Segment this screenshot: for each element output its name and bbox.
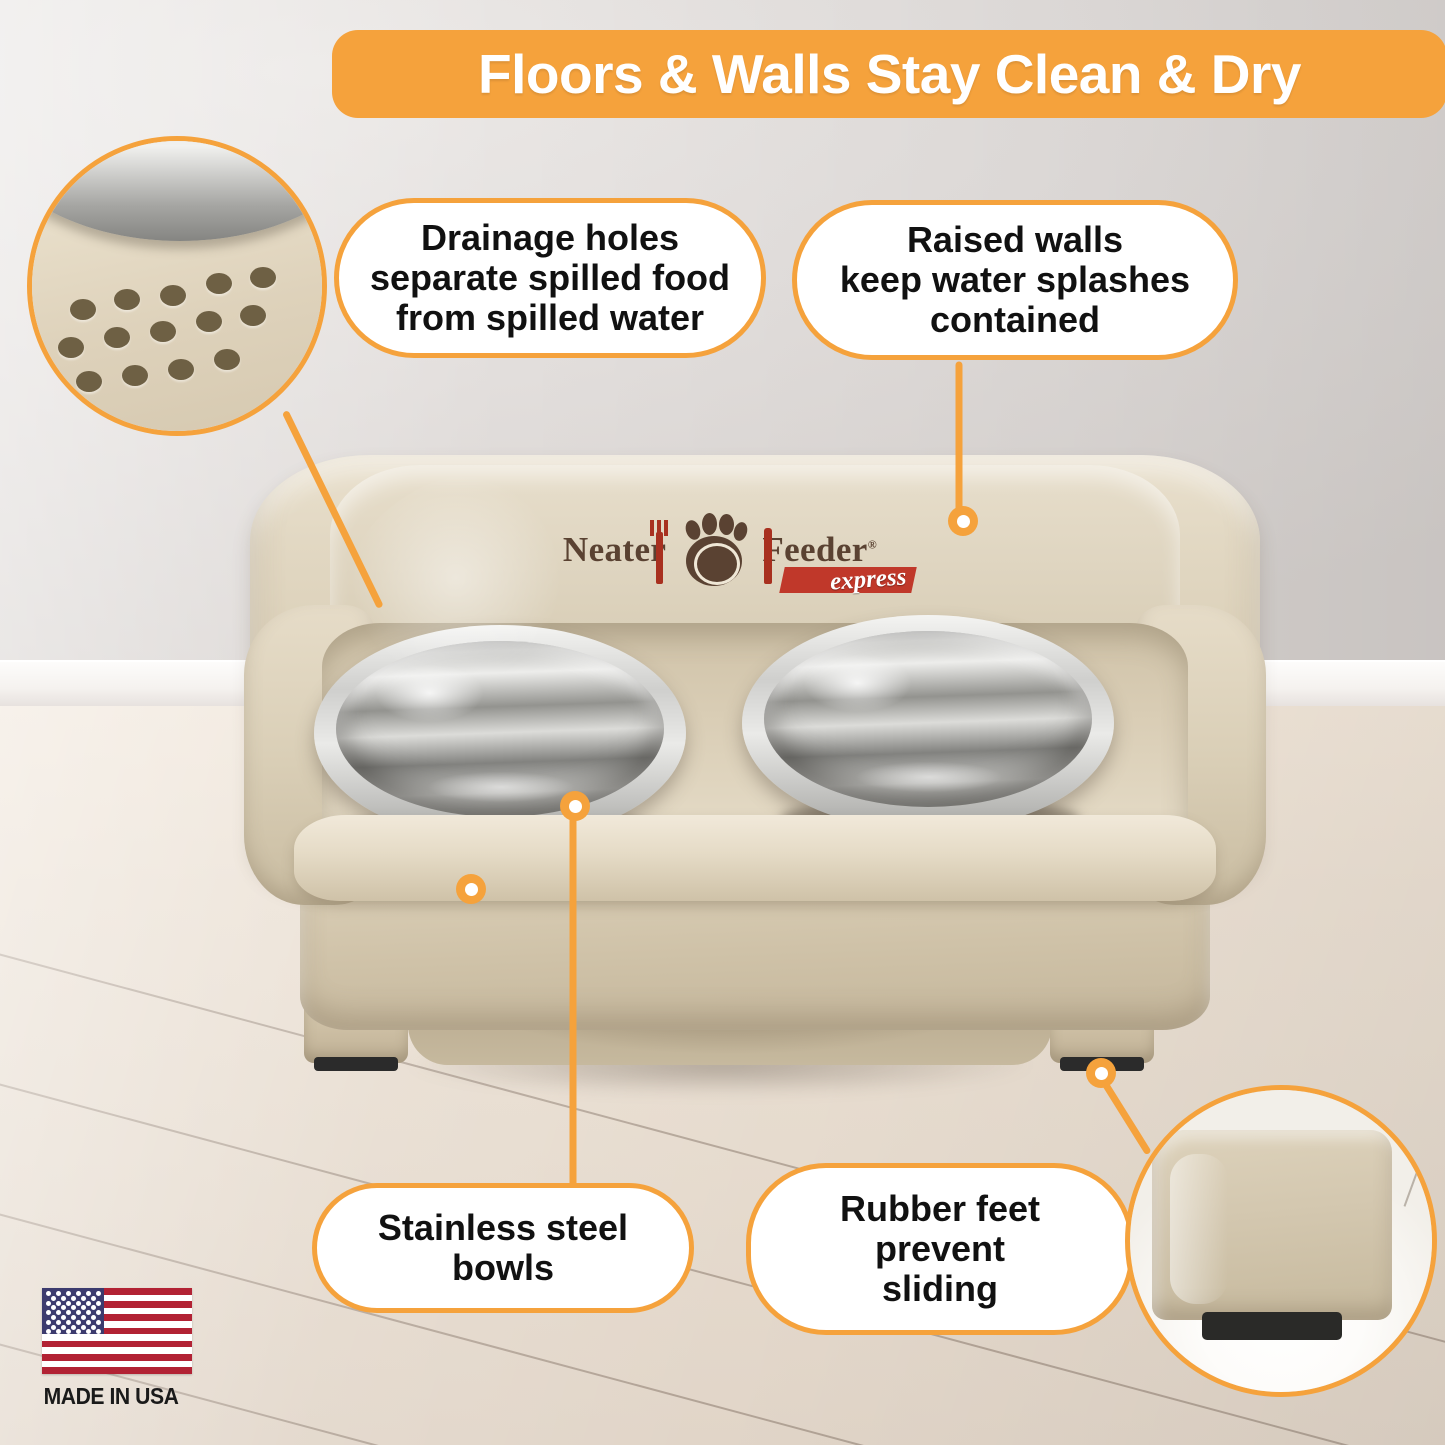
usa-flag-icon [42, 1288, 192, 1374]
feeder-body: Neater Feeder® express [250, 455, 1260, 885]
made-in-usa-badge: MADE IN USA [42, 1288, 192, 1418]
front-rail [294, 815, 1216, 901]
neater-feeder-product: Neater Feeder® express [250, 455, 1260, 1075]
callout-walls-text: Raised wallskeep water splashescontained [840, 220, 1190, 341]
callout-feet-text: Rubber feetpreventsliding [840, 1189, 1040, 1310]
banner-title: Floors & Walls Stay Clean & Dry [478, 42, 1301, 106]
rubber-foot-left [314, 1057, 398, 1071]
callout-drainage-text: Drainage holesseparate spilled foodfrom … [370, 218, 730, 339]
leader-dot-bowls [560, 791, 590, 821]
callout-stainless-bowls: Stainless steelbowls [312, 1183, 694, 1313]
paw-plate-fork-knife-icon [672, 510, 756, 590]
leader-line-walls [956, 362, 963, 530]
leader-line-bowls [570, 809, 577, 1191]
leader-dot-walls [948, 506, 978, 536]
brand-name-first: Neater [563, 530, 666, 570]
leader-dot-drainage [456, 874, 486, 904]
infographic-canvas: Neater Feeder® express [0, 0, 1445, 1445]
stainless-bowl-left [314, 625, 686, 841]
flag-canton [42, 1288, 104, 1334]
callout-bowls-text: Stainless steelbowls [378, 1208, 628, 1289]
callout-raised-walls: Raised wallskeep water splashescontained [792, 200, 1238, 360]
callout-rubber-feet: Rubber feetpreventsliding [746, 1163, 1134, 1335]
made-in-usa-label: MADE IN USA [42, 1383, 180, 1410]
leader-dot-feet [1086, 1058, 1116, 1088]
callout-drainage: Drainage holesseparate spilled foodfrom … [334, 198, 766, 358]
knife-icon [764, 528, 772, 584]
registered-mark: ® [868, 537, 877, 551]
stainless-bowl-right [742, 615, 1114, 831]
fork-icon [656, 532, 663, 584]
rubber-foot-inset-photo [1125, 1085, 1437, 1397]
brand-logo: Neater Feeder® express [520, 505, 920, 595]
rubber-pad [1202, 1312, 1342, 1340]
header-banner: Floors & Walls Stay Clean & Dry [332, 30, 1445, 118]
sub-brand-label: express [829, 563, 907, 596]
brand-name-second: Feeder® [762, 530, 877, 570]
drainage-holes-inset-photo [27, 136, 327, 436]
